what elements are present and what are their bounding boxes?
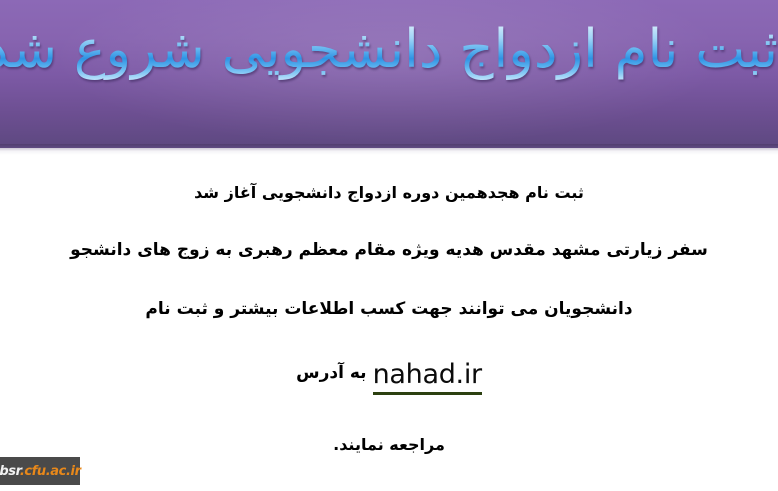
body-line-2: سفر زیارتی مشهد مقدس هدیه ویژه مقام معظم… bbox=[0, 240, 778, 260]
body-line-3: دانشجویان می توانند جهت کسب اطلاعات بیشت… bbox=[0, 299, 778, 319]
announcement-body: ثبت نام هجدهمین دوره ازدواج دانشجویی آغا… bbox=[0, 155, 778, 455]
link-line-wrapper: nahad.irبه آدرس bbox=[296, 359, 482, 395]
banner-title: ثبت نام ازدواج دانشجویی شروع شد bbox=[0, 14, 778, 86]
announcement-page: ثبت نام ازدواج دانشجویی شروع شد ثبت نام … bbox=[0, 0, 778, 491]
body-line-link: nahad.irبه آدرس bbox=[0, 359, 778, 395]
watermark-part-two: .cfu.ac.ir bbox=[20, 464, 81, 479]
header-banner: ثبت نام ازدواج دانشجویی شروع شد bbox=[0, 0, 778, 148]
body-line-1: ثبت نام هجدهمین دوره ازدواج دانشجویی آغا… bbox=[0, 183, 778, 202]
site-watermark-badge: bsr.cfu.ac.ir bbox=[0, 457, 80, 485]
link-prefix-label: به آدرس bbox=[296, 363, 366, 383]
watermark-part-one: bsr bbox=[0, 464, 20, 479]
nahad-website-link[interactable]: nahad.ir bbox=[373, 359, 482, 395]
banner-shadow-divider bbox=[0, 148, 778, 155]
body-line-5: مراجعه نمایند. bbox=[0, 435, 778, 454]
watermark-text: bsr.cfu.ac.ir bbox=[0, 464, 81, 479]
